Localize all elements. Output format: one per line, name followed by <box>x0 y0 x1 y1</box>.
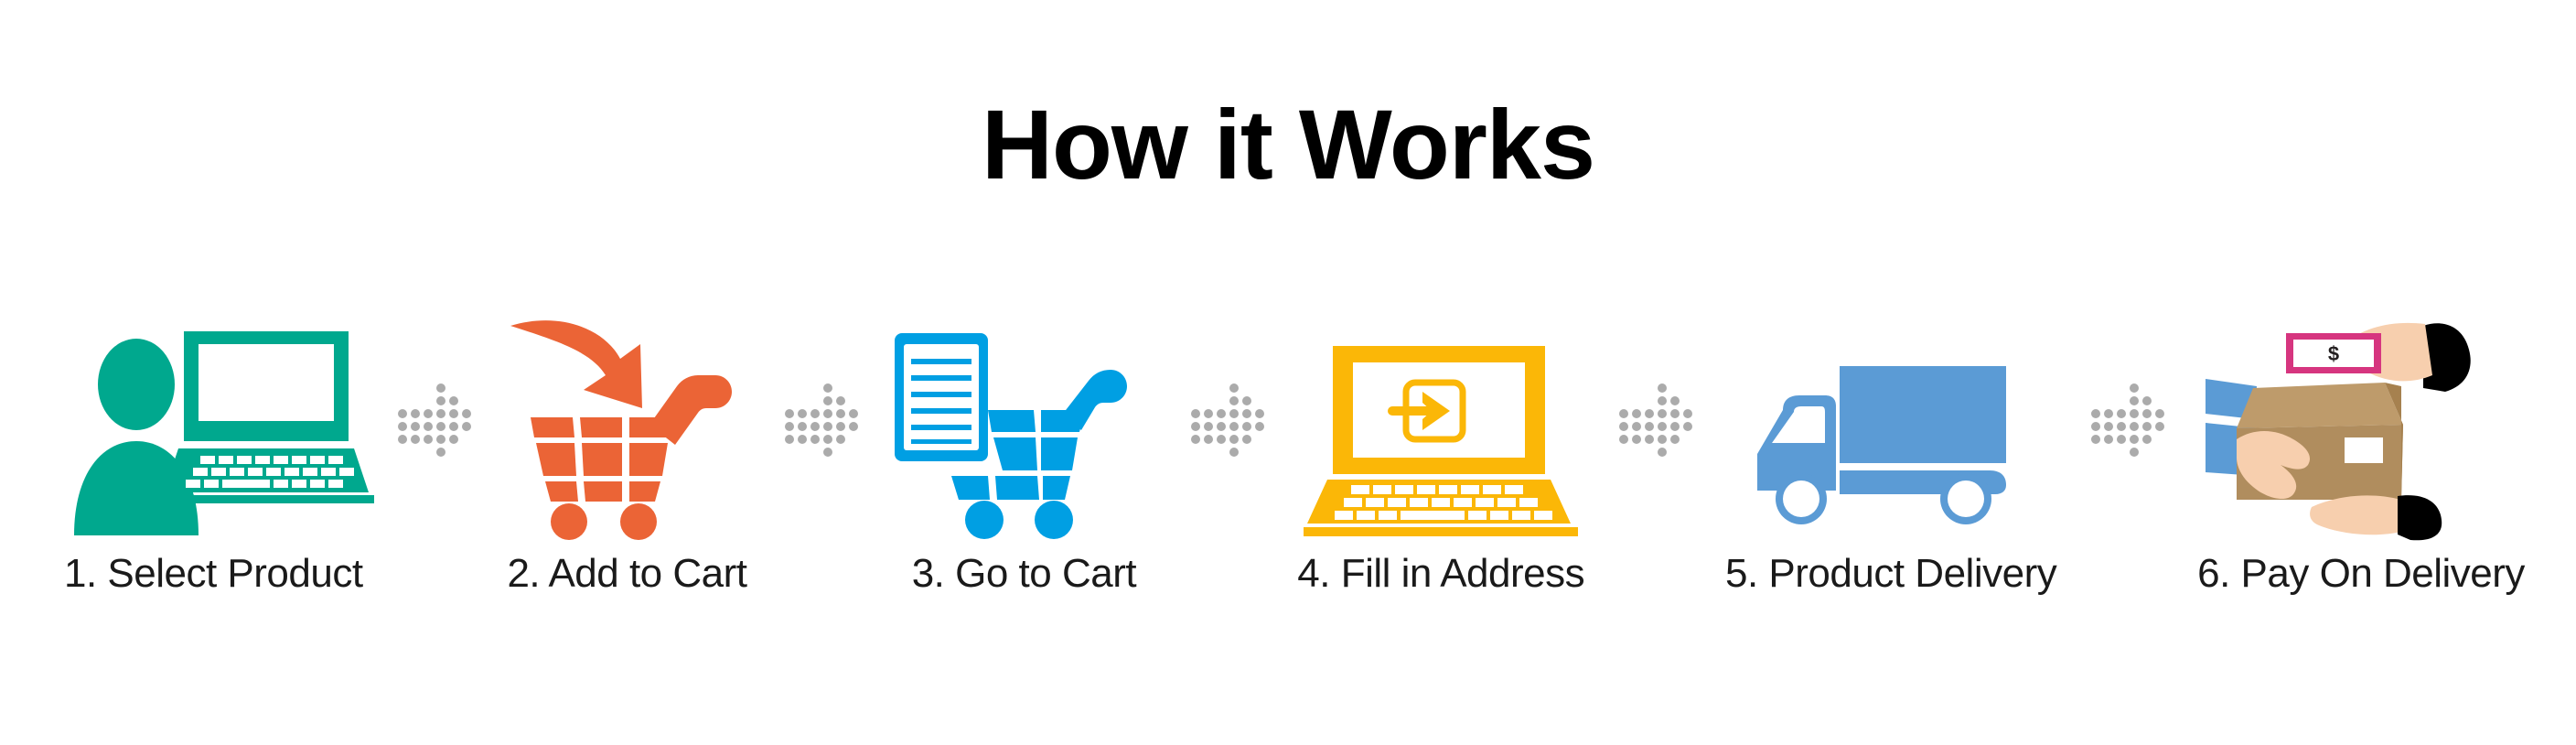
dotted-arrow-icon <box>1190 386 1263 456</box>
step-2-label: 2. Add to Cart <box>507 551 746 597</box>
document-cart-icon <box>891 311 1156 540</box>
step-1-select-product[interactable]: 1. Select Product <box>64 302 363 597</box>
page-title: How it Works <box>0 95 2576 194</box>
separator-5 <box>2090 302 2163 540</box>
step-3-label: 3. Go to Cart <box>912 551 1136 597</box>
step-2-add-to-cart[interactable]: 2. Add to Cart <box>503 302 750 597</box>
step-4-label: 4. Fill in Address <box>1297 551 1584 597</box>
step-1-label: 1. Select Product <box>64 551 363 597</box>
step-3-go-to-cart[interactable]: 3. Go to Cart <box>891 302 1156 597</box>
hands-box-cash-icon: $ <box>2206 311 2517 540</box>
separator-2 <box>784 302 857 540</box>
separator-3 <box>1190 302 1263 540</box>
dotted-arrow-icon <box>2090 386 2163 456</box>
laptop-login-icon <box>1304 339 1578 540</box>
step-4-icon-box <box>1304 302 1578 540</box>
delivery-truck-icon <box>1754 357 2028 540</box>
step-6-icon-box: $ <box>2206 302 2517 540</box>
step-6-label: 6. Pay On Delivery <box>2197 551 2525 597</box>
step-2-icon-box <box>503 302 750 540</box>
step-6-pay-on-delivery[interactable]: $ <box>2197 302 2525 597</box>
step-5-label: 5. Product Delivery <box>1725 551 2056 597</box>
dotted-arrow-icon <box>397 386 470 456</box>
steps-row: 1. Select Product <box>64 302 2525 632</box>
person-laptop-icon <box>67 320 360 540</box>
step-4-fill-in-address[interactable]: 4. Fill in Address <box>1297 302 1584 597</box>
dotted-arrow-icon <box>784 386 857 456</box>
step-5-product-delivery[interactable]: 5. Product Delivery <box>1725 302 2056 597</box>
step-1-icon-box <box>67 302 360 540</box>
dollar-sign-label: $ <box>2328 342 2339 365</box>
separator-1 <box>397 302 470 540</box>
step-5-icon-box <box>1754 302 2028 540</box>
dotted-arrow-icon <box>1618 386 1691 456</box>
separator-4 <box>1618 302 1691 540</box>
cart-arrow-icon <box>503 311 750 540</box>
step-3-icon-box <box>891 302 1156 540</box>
how-it-works-infographic: How it Works <box>0 0 2576 745</box>
